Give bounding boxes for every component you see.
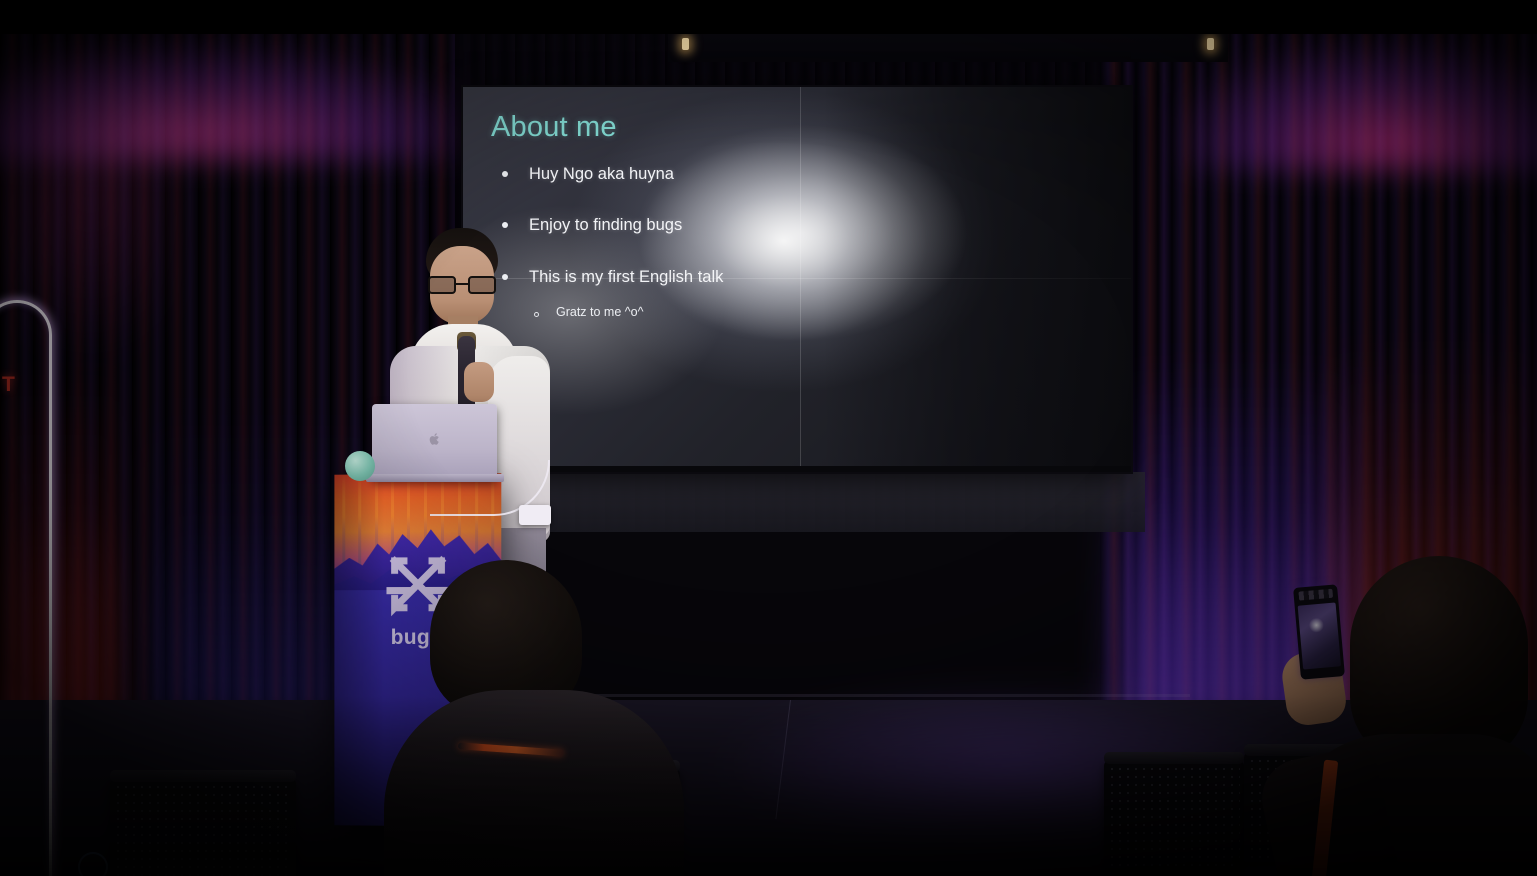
audience-member-front: [400, 560, 670, 876]
slide-bullet-item: Huy Ngo aka huyna: [493, 163, 963, 185]
apple-logo-icon: [429, 432, 441, 446]
audience-member-right: [1290, 548, 1537, 876]
slide-bullet-text: Huy Ngo aka huyna: [529, 163, 674, 185]
glasses-icon: [426, 276, 498, 294]
speaker-hand: [464, 362, 494, 402]
slide-title: About me: [491, 111, 617, 144]
ceiling-black-bar: [0, 0, 1537, 34]
power-adapter: [519, 505, 551, 525]
stage-scene: About me Huy Ngo aka huyna Enjoy to find…: [0, 0, 1537, 876]
chair-back: [110, 778, 296, 876]
slide-sub-bullet-item: Gratz to me ^o^: [525, 305, 963, 319]
ceiling-spotlight-icon: [1207, 38, 1214, 50]
bullet-dot-icon: [502, 171, 508, 177]
smartphone-recording: [1293, 584, 1345, 679]
chair-back: [1104, 760, 1244, 870]
audience-shoulders: [384, 690, 684, 876]
red-sign-glyph: T: [2, 374, 18, 396]
phone-camera-icon: [1298, 589, 1333, 601]
green-ball-object: [345, 451, 375, 481]
phone-screen: [1298, 602, 1341, 669]
ceiling-spotlight-icon: [682, 38, 689, 50]
chair-logo-icon: [78, 852, 108, 876]
